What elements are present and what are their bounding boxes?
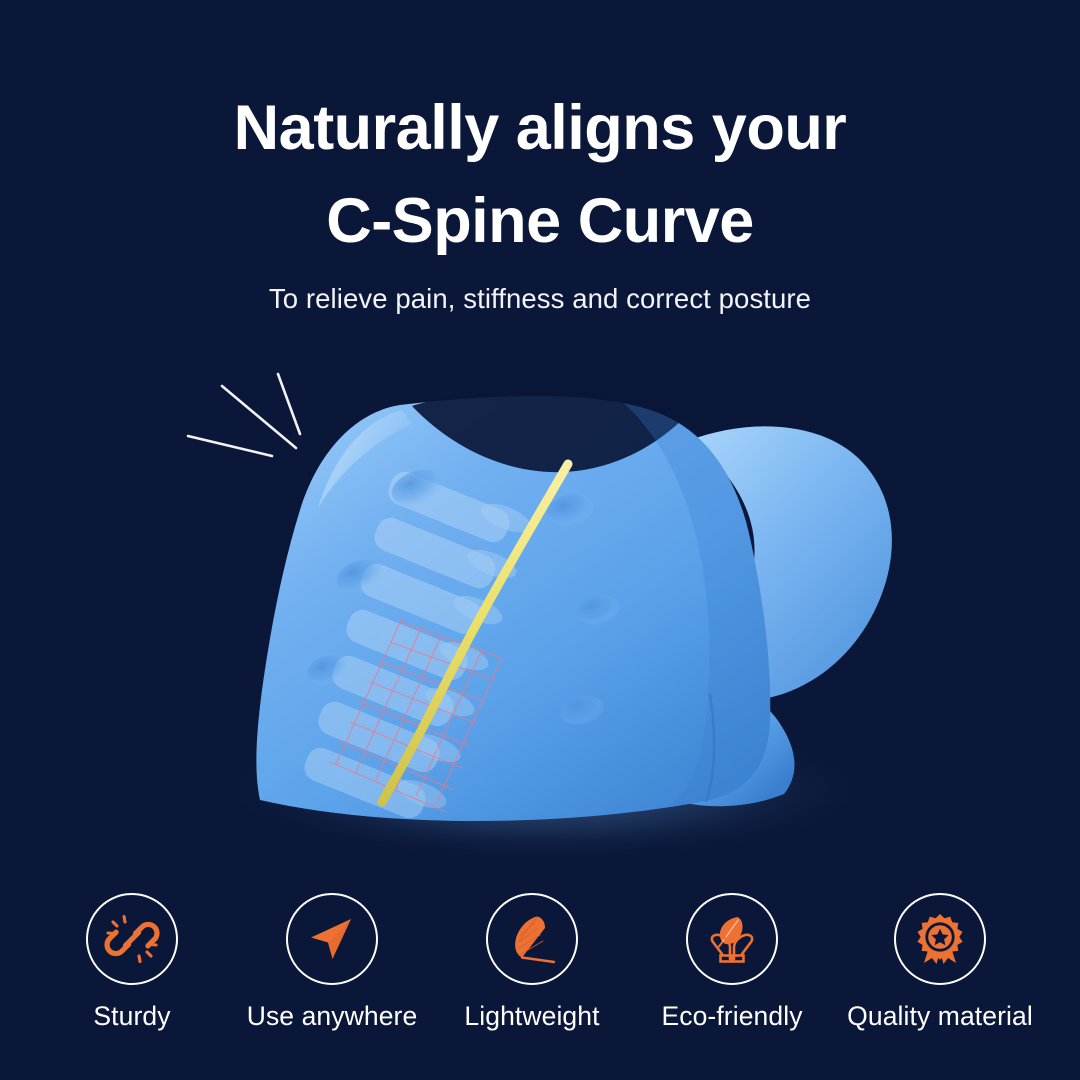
feature-label: Use anywhere xyxy=(247,1001,418,1032)
feature-label: Quality material xyxy=(847,1001,1033,1032)
product-illustration xyxy=(150,360,950,860)
feature-item-use-anywhere[interactable]: Use anywhere xyxy=(232,893,432,1032)
headline-line-2: C-Spine Curve xyxy=(0,175,1080,268)
hands-leaf-icon xyxy=(703,910,761,968)
feature-item-sturdy[interactable]: Sturdy xyxy=(32,893,232,1032)
page-title: Naturally aligns your C-Spine Curve xyxy=(0,82,1080,268)
feature-item-quality-material[interactable]: Quality material xyxy=(832,893,1048,1032)
feature-item-lightweight[interactable]: Lightweight xyxy=(432,893,632,1032)
feather-icon xyxy=(504,911,560,967)
sparkle-lines xyxy=(188,374,300,456)
feature-icon-ring xyxy=(894,893,986,985)
feature-icon-ring xyxy=(86,893,178,985)
feature-icon-ring xyxy=(286,893,378,985)
product-image xyxy=(150,360,950,860)
feature-label: Lightweight xyxy=(464,1001,599,1032)
feature-list: Sturdy Use anywhere xyxy=(0,893,1080,1053)
feature-label: Sturdy xyxy=(93,1001,170,1032)
chain-link-icon xyxy=(104,911,160,967)
feature-icon-ring xyxy=(686,893,778,985)
feature-icon-ring xyxy=(486,893,578,985)
headline-line-1: Naturally aligns your xyxy=(0,82,1080,175)
feature-label: Eco-friendly xyxy=(661,1001,802,1032)
product-banner: Naturally aligns your C-Spine Curve To r… xyxy=(0,0,1080,1080)
feature-item-eco-friendly[interactable]: Eco-friendly xyxy=(632,893,832,1032)
paper-plane-icon xyxy=(305,912,359,966)
subtitle: To relieve pain, stiffness and correct p… xyxy=(0,283,1080,315)
award-badge-icon xyxy=(912,911,968,967)
